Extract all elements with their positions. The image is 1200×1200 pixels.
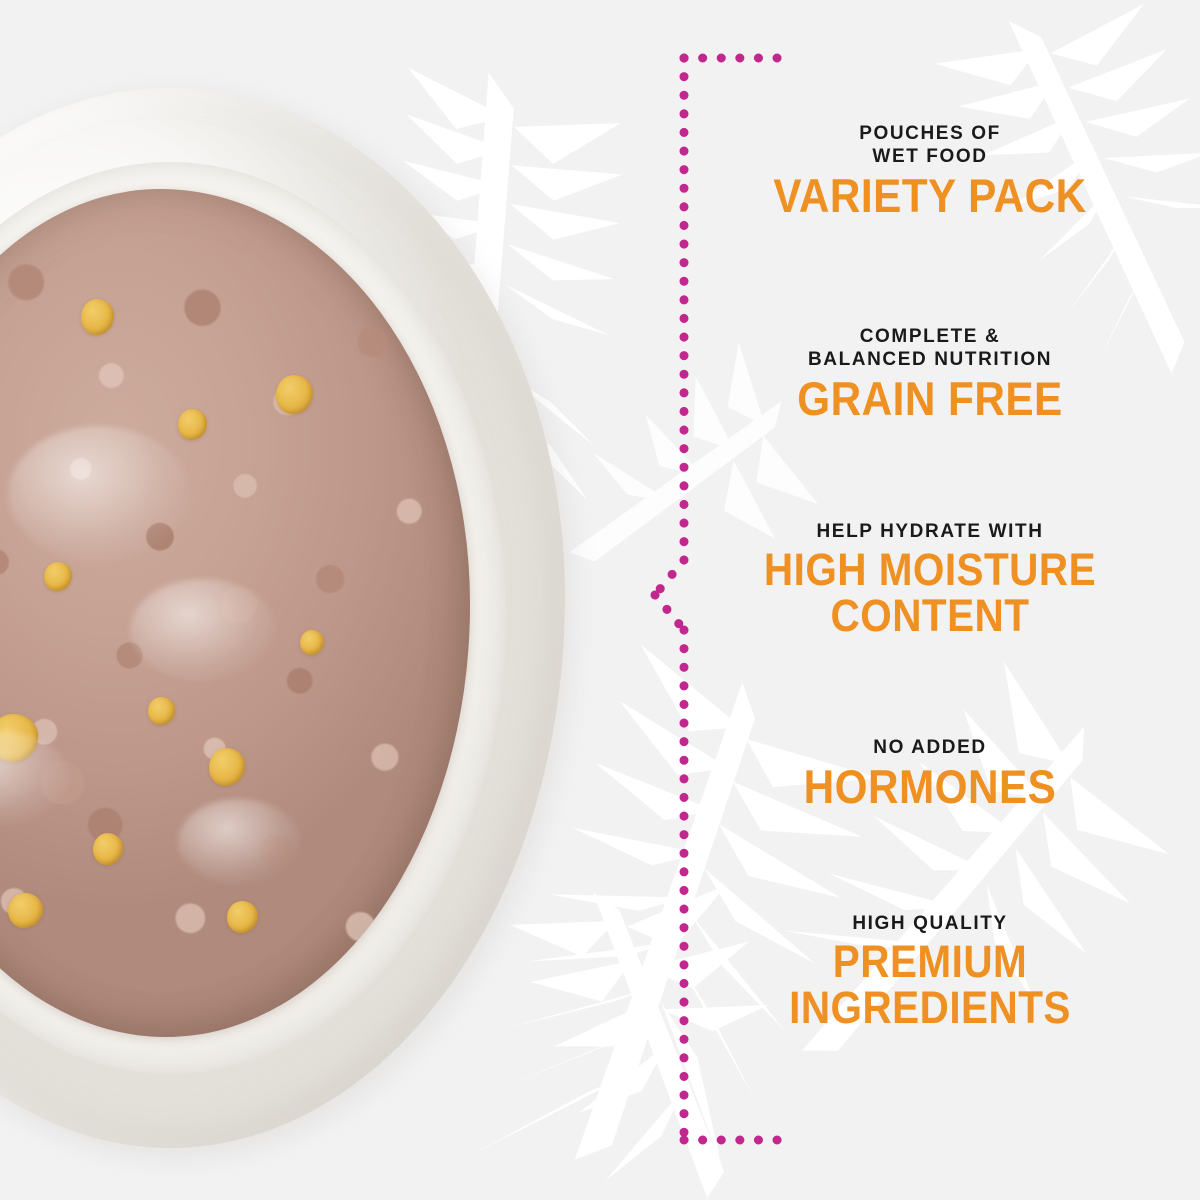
- feature-eyebrow: HIGH QUALITY: [700, 912, 1160, 935]
- feature-headline: PREMIUM INGREDIENTS: [723, 939, 1137, 1031]
- feature-eyebrow: NO ADDED: [700, 736, 1160, 759]
- feature-callout-variety-pack: POUCHES OFWET FOOD VARIETY PACK: [700, 122, 1160, 220]
- feature-headline: VARIETY PACK: [723, 172, 1137, 220]
- bracket-arrow-lower-leg: [655, 595, 684, 630]
- food-chunk: [148, 697, 175, 724]
- feature-callout-hormones: NO ADDED HORMONES: [700, 736, 1160, 811]
- feature-headline: GRAIN FREE: [723, 375, 1137, 423]
- food-gloss-highlight: [8, 426, 190, 562]
- feature-eyebrow: COMPLETE &BALANCED NUTRITION: [700, 325, 1160, 371]
- infographic-root: POUCHES OFWET FOOD VARIETY PACK COMPLETE…: [0, 0, 1200, 1200]
- feature-eyebrow: POUCHES OFWET FOOD: [700, 122, 1160, 168]
- feature-callout-high-moisture-content: HELP HYDRATE WITH HIGH MOISTURE CONTENT: [700, 520, 1160, 639]
- product-photo-panel: [0, 0, 640, 1200]
- bracket-arrow-upper-leg: [655, 560, 684, 595]
- feature-callout-premium-ingredients: HIGH QUALITY PREMIUM INGREDIENTS: [700, 912, 1160, 1031]
- pet-food-bowl: [0, 88, 565, 1148]
- feature-headline: HORMONES: [723, 763, 1137, 811]
- feature-headline: HIGH MOISTURE CONTENT: [723, 547, 1137, 639]
- food-gloss-highlight: [178, 799, 300, 884]
- wet-food-pate: [0, 189, 470, 1037]
- feature-callout-grain-free: COMPLETE &BALANCED NUTRITION GRAIN FREE: [700, 325, 1160, 423]
- food-gloss-highlight: [130, 579, 276, 681]
- feature-eyebrow: HELP HYDRATE WITH: [700, 520, 1160, 543]
